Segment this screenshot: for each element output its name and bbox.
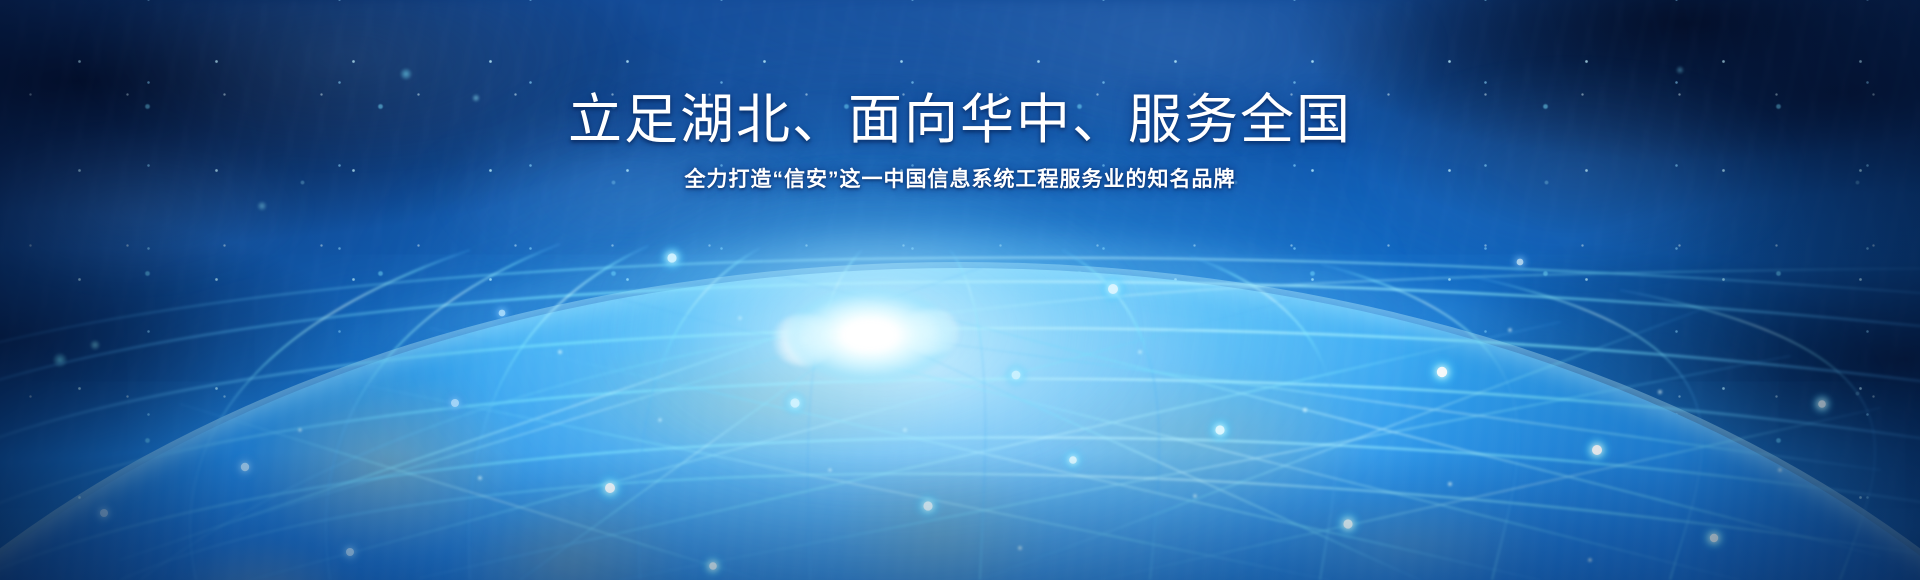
lens-flare-icon (785, 287, 955, 383)
banner-headline: 立足湖北、面向华中、服务全国 (0, 90, 1920, 150)
hero-banner: 立足湖北、面向华中、服务全国 全力打造“信安”这一中国信息系统工程服务业的知名品… (0, 0, 1920, 580)
banner-copy: 立足湖北、面向华中、服务全国 全力打造“信安”这一中国信息系统工程服务业的知名品… (0, 90, 1920, 194)
banner-subheadline: 全力打造“信安”这一中国信息系统工程服务业的知名品牌 (0, 166, 1920, 194)
